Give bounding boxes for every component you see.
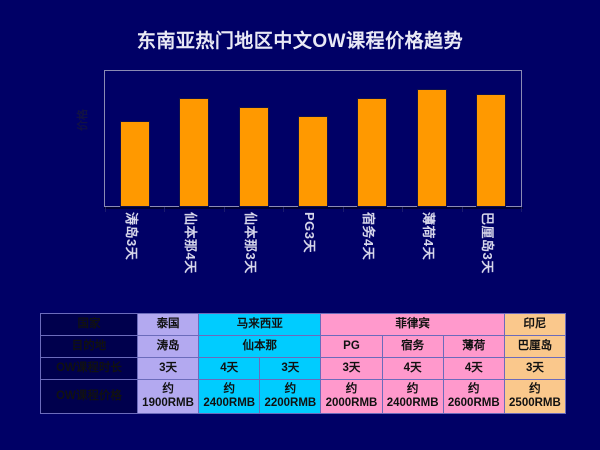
price-approx-label: 约 (201, 383, 257, 396)
table-cell: 4天 (443, 358, 504, 380)
page-title: 东南亚热门地区中文OW课程价格趋势 (0, 26, 600, 53)
price-approx-label: 约 (140, 383, 196, 396)
axis-tick (224, 207, 225, 212)
bar (357, 98, 387, 207)
x-axis-tick-label: 涛岛3天 (123, 212, 142, 260)
table-cell: 仙本那 (199, 336, 321, 358)
bar (179, 98, 209, 207)
table-cell: 约2200RMB (260, 380, 321, 414)
table-cell: 马来西亚 (199, 314, 321, 336)
axis-tick (283, 207, 284, 212)
y-axis-label: 价格 (74, 102, 90, 138)
table-cell: 3天 (138, 358, 199, 380)
x-axis-tick-label: 宿务4天 (360, 212, 379, 260)
price-value: 2000RMB (323, 397, 379, 410)
bar (298, 116, 328, 207)
price-approx-label: 约 (446, 383, 502, 396)
x-axis-tick-label: 巴厘岛3天 (479, 212, 498, 274)
table-row: OW课程时长3天4天3天3天4天4天3天 (41, 358, 566, 380)
x-axis-tick-label: 仙本那4天 (182, 212, 201, 274)
table-cell: 泰国 (138, 314, 199, 336)
x-axis-tick-label: 薄荷4天 (420, 212, 439, 260)
axis-tick (521, 207, 522, 212)
price-approx-label: 约 (323, 383, 379, 396)
table-cell: 薄荷 (443, 336, 504, 358)
price-approx-label: 约 (385, 383, 441, 396)
bar (239, 107, 269, 207)
bar (120, 121, 150, 207)
bar (476, 94, 506, 207)
table-cell: 3天 (260, 358, 321, 380)
price-approx-label: 约 (507, 383, 563, 396)
axis-tick (343, 207, 344, 212)
table-cell: 巴厘岛 (504, 336, 565, 358)
table-cell: 约1900RMB (138, 380, 199, 414)
price-table: 国家泰国马来西亚菲律宾印尼目的地涛岛仙本那PG宿务薄荷巴厘岛OW课程时长3天4天… (40, 313, 566, 414)
bar (417, 89, 447, 207)
table-row: OW课程价格约1900RMB约2400RMB约2200RMB约2000RMB约2… (41, 380, 566, 414)
price-approx-label: 约 (262, 383, 318, 396)
price-value: 2500RMB (507, 397, 563, 410)
axis-tick (402, 207, 403, 212)
table-row-label: 目的地 (41, 336, 138, 358)
table-cell: 约2600RMB (443, 380, 504, 414)
table-cell: PG (321, 336, 382, 358)
table-cell: 4天 (199, 358, 260, 380)
table-cell: 4天 (382, 358, 443, 380)
table-row-label: OW课程时长 (41, 358, 138, 380)
table-cell: 3天 (504, 358, 565, 380)
axis-tick (462, 207, 463, 212)
price-value: 2400RMB (201, 397, 257, 410)
table-row-label: 国家 (41, 314, 138, 336)
x-axis-tick-label: PG3天 (301, 212, 320, 253)
table-cell: 约2400RMB (382, 380, 443, 414)
table-cell: 印尼 (504, 314, 565, 336)
table-cell: 宿务 (382, 336, 443, 358)
table-cell: 涛岛 (138, 336, 199, 358)
price-value: 1900RMB (140, 397, 196, 410)
table-cell: 约2400RMB (199, 380, 260, 414)
axis-tick (105, 207, 106, 212)
price-value: 2200RMB (262, 397, 318, 410)
table-row: 目的地涛岛仙本那PG宿务薄荷巴厘岛 (41, 336, 566, 358)
table-cell: 约2000RMB (321, 380, 382, 414)
bar-chart: 涛岛3天仙本那4天仙本那3天PG3天宿务4天薄荷4天巴厘岛3天 价格 (0, 60, 600, 300)
bars-layer (105, 71, 521, 207)
table-row-label: OW课程价格 (41, 380, 138, 414)
table-cell: 3天 (321, 358, 382, 380)
table-cell: 菲律宾 (321, 314, 504, 336)
price-value: 2600RMB (446, 397, 502, 410)
x-axis-tick-label: 仙本那3天 (242, 212, 261, 274)
axis-tick (164, 207, 165, 212)
table-cell: 约2500RMB (504, 380, 565, 414)
price-value: 2400RMB (385, 397, 441, 410)
x-axis-line (104, 207, 523, 209)
table-row: 国家泰国马来西亚菲律宾印尼 (41, 314, 566, 336)
